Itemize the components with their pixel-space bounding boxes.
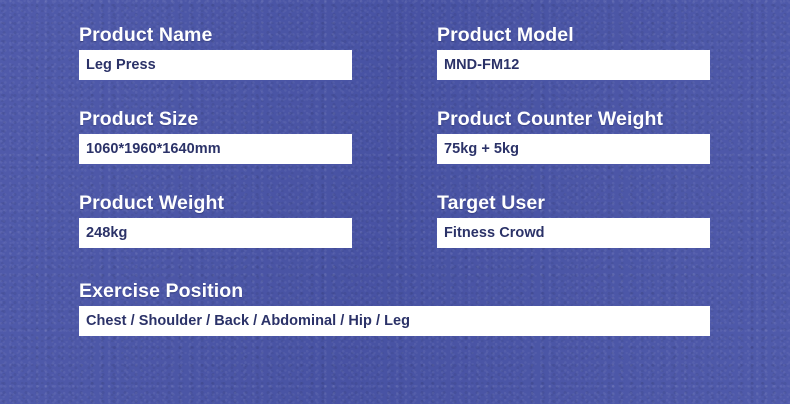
field-label-target-user: Target User	[437, 192, 710, 215]
field-value-box-target-user: Fitness Crowd	[437, 218, 710, 248]
field-value-exercise-position: Chest / Shoulder / Back / Abdominal / Hi…	[86, 313, 410, 330]
field-value-product-name: Leg Press	[86, 57, 156, 74]
field-product-counter-weight: Product Counter Weight 75kg + 5kg	[437, 108, 710, 164]
field-label-product-size: Product Size	[79, 108, 352, 131]
field-value-product-model: MND-FM12	[444, 57, 519, 74]
field-label-product-weight: Product Weight	[79, 192, 352, 215]
field-label-exercise-position: Exercise Position	[79, 280, 710, 303]
field-value-box-product-name: Leg Press	[79, 50, 352, 80]
field-value-box-product-size: 1060*1960*1640mm	[79, 134, 352, 164]
field-label-product-name: Product Name	[79, 24, 352, 47]
field-target-user: Target User Fitness Crowd	[437, 192, 710, 248]
field-label-product-counter-weight: Product Counter Weight	[437, 108, 710, 131]
field-value-target-user: Fitness Crowd	[444, 225, 545, 242]
field-product-model: Product Model MND-FM12	[437, 24, 710, 80]
field-value-product-counter-weight: 75kg + 5kg	[444, 141, 519, 158]
field-product-size: Product Size 1060*1960*1640mm	[79, 108, 352, 164]
field-product-weight: Product Weight 248kg	[79, 192, 352, 248]
field-value-box-product-weight: 248kg	[79, 218, 352, 248]
field-product-name: Product Name Leg Press	[79, 24, 352, 80]
field-label-product-model: Product Model	[437, 24, 710, 47]
field-exercise-position: Exercise Position Chest / Shoulder / Bac…	[79, 280, 710, 336]
field-value-box-exercise-position: Chest / Shoulder / Back / Abdominal / Hi…	[79, 306, 710, 336]
field-value-box-product-model: MND-FM12	[437, 50, 710, 80]
spec-row-full-width: Exercise Position Chest / Shoulder / Bac…	[79, 280, 710, 336]
field-value-product-size: 1060*1960*1640mm	[86, 141, 221, 158]
field-value-box-product-counter-weight: 75kg + 5kg	[437, 134, 710, 164]
product-spec-panel: Product Name Leg Press Product Size 1060…	[0, 0, 790, 404]
field-value-product-weight: 248kg	[86, 225, 127, 242]
